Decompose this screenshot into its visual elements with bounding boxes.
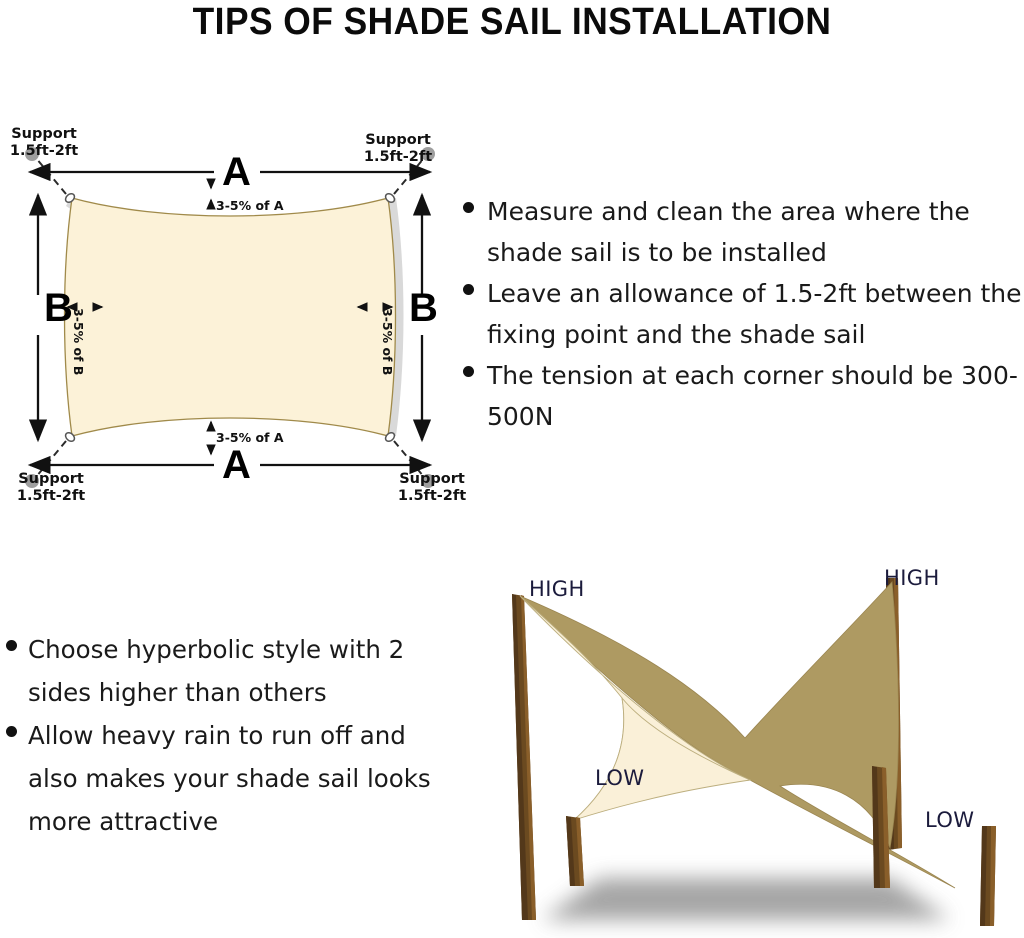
dimension-letter-left-B: B [44, 288, 73, 328]
list-item: Choose hyperbolic style with 2 sides hig… [6, 628, 446, 714]
tip-text: Choose hyperbolic style with 2 sides hig… [28, 628, 446, 714]
post-high-left [512, 594, 536, 920]
tip-text: Leave an allowance of 1.5-2ft between th… [487, 273, 1024, 355]
bullet-dot-icon [463, 366, 474, 377]
bullet-dot-icon [463, 284, 474, 295]
hyperbolic-sail-diagram [450, 548, 1024, 938]
tip-text: Measure and clean the area where the sha… [487, 191, 1024, 273]
page-title: TIPS OF SHADE SAIL INSTALLATION [36, 0, 988, 46]
support-label-bottom-right: Support 1.5ft-2ft [394, 471, 470, 505]
shade-sail-shape [65, 198, 396, 436]
label-low-right: LOW [925, 808, 974, 832]
support-label-bottom-left: Support 1.5ft-2ft [13, 471, 89, 505]
bullet-dot-icon [6, 726, 17, 737]
label-low-left: LOW [595, 766, 644, 790]
dimension-letter-top-A: A [222, 152, 251, 192]
sail-lobe-dark [520, 582, 955, 888]
dimension-letter-bottom-A: A [222, 445, 251, 485]
support-label-top-left: Support 1.5ft-2ft [6, 126, 82, 160]
tolerance-label-bottom: 3-5% of A [216, 430, 284, 445]
label-high-left: HIGH [529, 577, 585, 601]
tips-list-top: Measure and clean the area where the sha… [463, 191, 1024, 437]
list-item: Allow heavy rain to run off and also mak… [6, 714, 446, 843]
bullet-dot-icon [6, 640, 17, 651]
post-low-right [980, 826, 996, 926]
dimension-letter-right-B: B [409, 288, 438, 328]
tolerance-label-top: 3-5% of A [216, 198, 284, 213]
list-item: Leave an allowance of 1.5-2ft between th… [463, 273, 1024, 355]
list-item: The tension at each corner should be 300… [463, 355, 1024, 437]
tip-text: Allow heavy rain to run off and also mak… [28, 714, 446, 843]
tips-list-bottom: Choose hyperbolic style with 2 sides hig… [6, 628, 446, 843]
support-label-top-right: Support 1.5ft-2ft [360, 132, 436, 166]
tip-text: The tension at each corner should be 300… [487, 355, 1024, 437]
post-low-left [566, 816, 584, 886]
list-item: Measure and clean the area where the sha… [463, 191, 1024, 273]
infographic-page: TIPS OF SHADE SAIL INSTALLATION [0, 0, 1024, 934]
tolerance-label-left: 3-5% of B [71, 308, 86, 375]
tolerance-label-right: 3-5% of B [380, 308, 395, 375]
label-high-right: HIGH [884, 566, 940, 590]
bullet-dot-icon [463, 202, 474, 213]
